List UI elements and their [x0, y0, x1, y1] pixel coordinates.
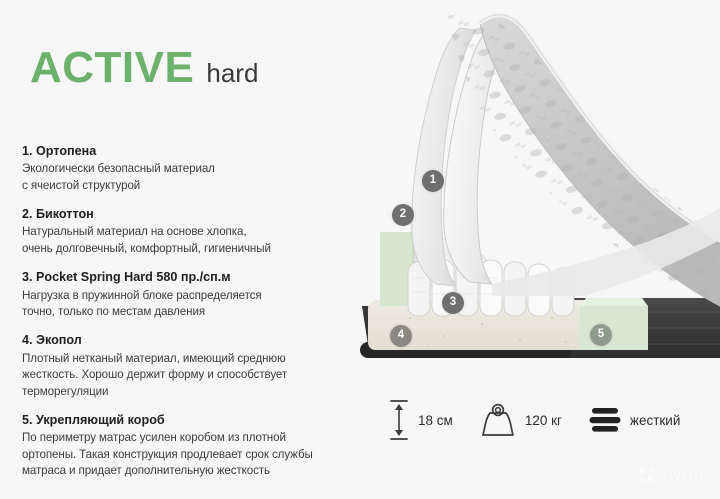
feature-title: 4. Экопол [22, 331, 362, 349]
feature-list: 1. Ортопена Экологически безопасный мате… [22, 142, 362, 491]
product-infographic: ACTIVE hard 1. Ортопена Экологически без… [0, 0, 720, 499]
avito-logo-icon [637, 465, 657, 485]
mattress-svg [352, 6, 720, 378]
feature-description: Плотный нетканый материал, имеющий средн… [22, 351, 362, 400]
callout-badge-2[interactable]: 2 [392, 204, 414, 226]
avito-watermark-text: Avito [661, 465, 704, 485]
callout-badge-1[interactable]: 1 [422, 170, 444, 192]
feature-description: Натуральный материал на основе хлопка, о… [22, 224, 362, 257]
feature-title: 5. Укрепляющий короб [22, 411, 362, 429]
edge-support-right-top [580, 298, 648, 306]
layer-edge-support-right [580, 306, 648, 350]
feature-title: 3. Pocket Spring Hard 580 пр./сп.м [22, 268, 362, 286]
callout-badge-5[interactable]: 5 [590, 324, 612, 346]
firmness-suffix: hard [206, 60, 258, 86]
weight-kettlebell-icon [479, 400, 517, 440]
mattress-cutaway-illustration: 1 2 3 4 5 [352, 6, 720, 378]
height-arrow-icon [388, 398, 410, 442]
feature-description: Экологически безопасный материал с ячеис… [22, 161, 362, 194]
callout-badge-3[interactable]: 3 [442, 292, 464, 314]
list-item: 5. Укрепляющий короб По периметру матрас… [22, 411, 362, 480]
feature-title: 1. Ортопена [22, 142, 362, 160]
feature-title: 2. Бикоттон [22, 205, 362, 223]
feature-description: По периметру матрас усилен коробом из пл… [22, 430, 362, 479]
list-item: 2. Бикоттон Натуральный материал на осно… [22, 205, 362, 257]
spec-weight-value: 120 кг [525, 413, 562, 428]
spec-firmness-value: жесткий [630, 413, 680, 428]
firmness-bars-icon [588, 403, 622, 437]
page-title: ACTIVE hard [30, 46, 258, 90]
spec-height-value: 18 см [418, 413, 453, 428]
list-item: 3. Pocket Spring Hard 580 пр./сп.м Нагру… [22, 268, 362, 320]
list-item: 1. Ортопена Экологически безопасный мате… [22, 142, 362, 194]
spec-weight: 120 кг [479, 400, 562, 440]
spec-firmness: жесткий [588, 403, 680, 437]
brand-name: ACTIVE [30, 46, 194, 90]
list-item: 4. Экопол Плотный нетканый материал, име… [22, 331, 362, 400]
spec-height: 18 см [388, 398, 453, 442]
feature-description: Нагрузка в пружинной блоке распределяетс… [22, 288, 362, 321]
avito-watermark: Avito [637, 465, 704, 485]
callout-badge-4[interactable]: 4 [390, 325, 412, 347]
specs-row: 18 см 120 кг жесткий [388, 398, 680, 442]
